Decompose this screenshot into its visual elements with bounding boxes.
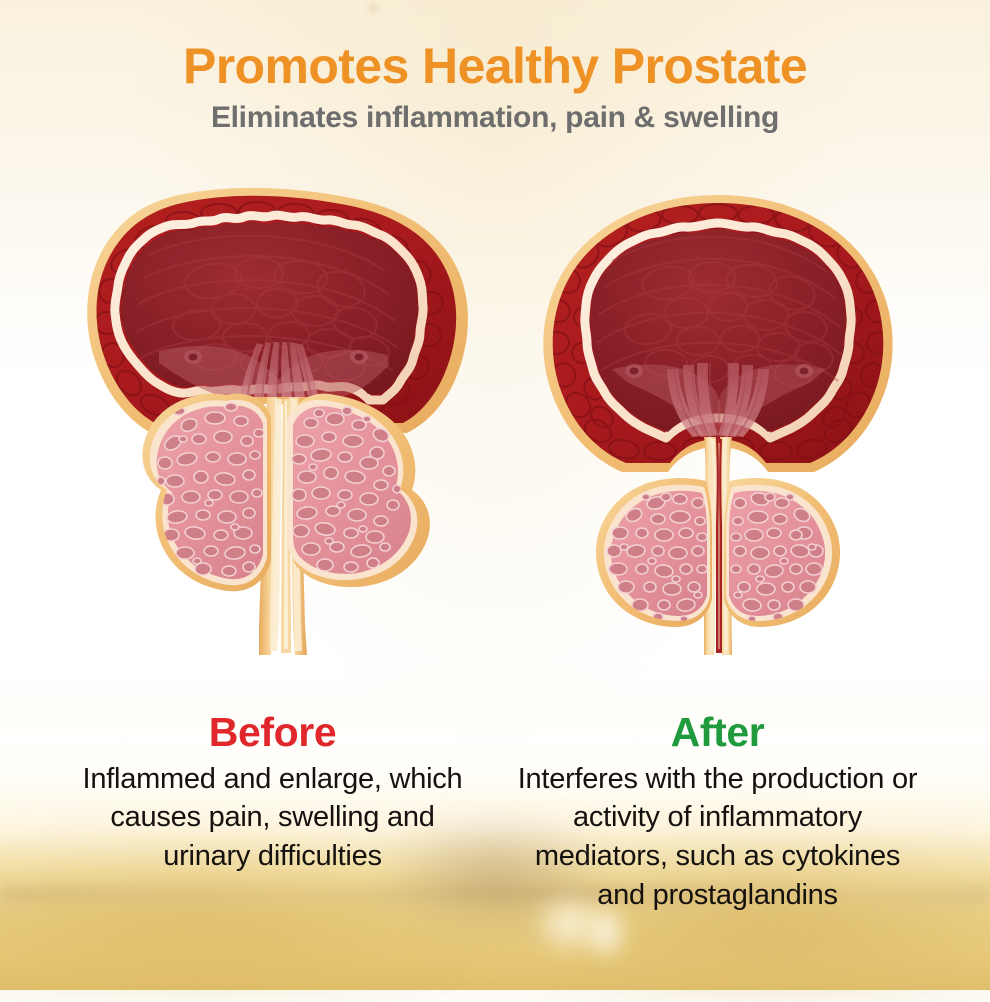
before-caption: Before Inflammed and enlarge, which caus… (50, 712, 495, 914)
comparison-figures (0, 185, 990, 695)
before-panel (50, 185, 495, 695)
enlarged-inflamed-prostate-diagram (63, 185, 483, 695)
healthy-prostate-diagram (508, 185, 928, 695)
prostate-lobe-right (724, 478, 840, 627)
page-subtitle: Eliminates inflammation, pain & swelling (0, 101, 990, 134)
before-description: Inflammed and enlarge, which causes pain… (64, 760, 481, 876)
after-caption: After Interferes with the production or … (495, 712, 940, 914)
comparison-captions: Before Inflammed and enlarge, which caus… (0, 712, 990, 914)
hero-header: Promotes Healthy Prostate Eliminates inf… (0, 40, 990, 134)
page-title: Promotes Healthy Prostate (0, 40, 990, 92)
prostate-lobe-left (595, 478, 711, 627)
after-panel (495, 185, 940, 695)
prostate-lobe-left (142, 394, 271, 592)
after-description: Interferes with the production or activi… (509, 760, 926, 914)
before-heading: Before (64, 712, 481, 754)
after-heading: After (509, 712, 926, 754)
